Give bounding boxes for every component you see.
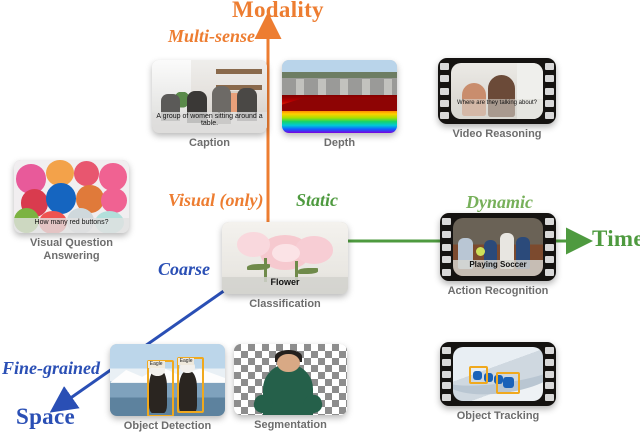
- depth-thumbnail: [282, 60, 397, 133]
- node-label-video-reasoning: Video Reasoning: [438, 128, 556, 141]
- axis-title-modality: Modality: [232, 0, 324, 23]
- action-recognition-filmstrip: Playing Soccer: [440, 213, 556, 281]
- node-label-caption: Caption: [152, 137, 267, 150]
- detection-box-label-2: Eagle: [178, 358, 195, 365]
- segmentation-thumbnail: [234, 344, 347, 415]
- detection-box-2: Eagle: [177, 357, 204, 413]
- edge-label-multi-sense: Multi-sense: [168, 26, 255, 47]
- action-recognition-frame: Playing Soccer: [453, 218, 543, 276]
- node-label-object-tracking: Object Tracking: [440, 410, 556, 423]
- node-label-action-recognition: Action Recognition: [440, 285, 556, 298]
- action-recognition-overlay-text: Playing Soccer: [453, 260, 543, 276]
- object-tracking-image: [453, 347, 543, 401]
- segmentation-image: [234, 344, 347, 415]
- film-perforations-left: [442, 218, 451, 276]
- film-perforations-right: [545, 63, 554, 119]
- edge-label-coarse: Coarse: [158, 259, 210, 280]
- node-segmentation[interactable]: Segmentation: [234, 344, 347, 432]
- node-video-reasoning[interactable]: Where are they talking about? Video Reas…: [438, 58, 556, 141]
- edge-label-dynamic: Dynamic: [466, 192, 533, 213]
- node-label-segmentation: Segmentation: [234, 419, 347, 432]
- edge-label-static: Static: [296, 190, 338, 211]
- video-reasoning-filmstrip: Where are they talking about?: [438, 58, 556, 124]
- node-object-detection[interactable]: Eagle Eagle Object Detection: [110, 344, 225, 433]
- tracking-box-2: [496, 372, 520, 394]
- node-depth[interactable]: Depth: [282, 60, 397, 150]
- object-detection-thumbnail: Eagle Eagle: [110, 344, 225, 416]
- axis-title-space: Space: [16, 404, 75, 430]
- axis-title-time: Time: [592, 226, 640, 252]
- vqa-overlay-text: How many red buttons?: [14, 218, 129, 233]
- vqa-thumbnail: How many red buttons?: [14, 160, 129, 233]
- detection-box-1: Eagle: [147, 360, 174, 416]
- figure-canvas: Modality Time Space Multi-sense Visual (…: [0, 0, 640, 434]
- object-detection-image: Eagle Eagle: [110, 344, 225, 416]
- node-label-classification: Classification: [222, 298, 348, 311]
- classification-thumbnail: Flower: [222, 222, 348, 294]
- caption-thumbnail: A group of women sitting around a table.: [152, 60, 267, 133]
- node-vqa[interactable]: How many red buttons? Visual Question An…: [14, 160, 129, 262]
- node-object-tracking[interactable]: Object Tracking: [440, 342, 556, 423]
- video-reasoning-overlay-text: Where are they talking about?: [451, 99, 543, 119]
- film-perforations-right: [545, 347, 554, 401]
- tracking-box-1: [469, 366, 487, 384]
- depth-image: [282, 60, 397, 133]
- edge-label-fine-grained: Fine-grained: [2, 358, 100, 379]
- classification-overlay-text: Flower: [222, 277, 348, 294]
- node-label-vqa: Visual Question Answering: [14, 237, 129, 262]
- object-tracking-filmstrip: [440, 342, 556, 406]
- node-caption[interactable]: A group of women sitting around a table.…: [152, 60, 267, 150]
- video-reasoning-frame: Where are they talking about?: [451, 63, 543, 119]
- edge-label-visual-only: Visual (only): [168, 190, 264, 211]
- film-perforations-left: [442, 347, 451, 401]
- film-perforations-right: [545, 218, 554, 276]
- node-label-object-detection: Object Detection: [110, 420, 225, 433]
- object-tracking-frame: [453, 347, 543, 401]
- film-perforations-left: [440, 63, 449, 119]
- caption-overlay-text: A group of women sitting around a table.: [152, 112, 267, 133]
- node-action-recognition[interactable]: Playing Soccer Action Recognition: [440, 213, 556, 298]
- node-classification[interactable]: Flower Classification: [222, 222, 348, 311]
- node-label-depth: Depth: [282, 137, 397, 150]
- detection-box-label-1: Eagle: [148, 361, 165, 368]
